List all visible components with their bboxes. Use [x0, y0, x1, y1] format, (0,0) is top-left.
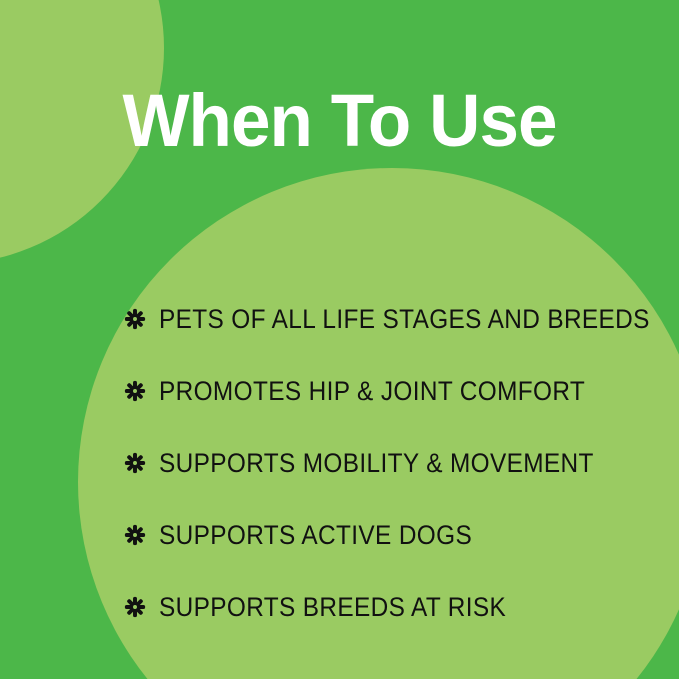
list-item: SUPPORTS BREEDS AT RISK: [124, 588, 669, 626]
list-item-label: SUPPORTS BREEDS AT RISK: [159, 592, 506, 622]
list-item-label: PROMOTES HIP & JOINT COMFORT: [159, 376, 585, 406]
asterisk-icon: [124, 524, 146, 546]
content-layer: When To Use PETS OF ALL LIFE STAGES AND …: [0, 0, 679, 679]
list-item: SUPPORTS ACTIVE DOGS: [124, 516, 669, 554]
benefits-list: PETS OF ALL LIFE STAGES AND BREEDS PROMO…: [124, 300, 669, 626]
asterisk-icon: [124, 308, 146, 330]
page-title: When To Use: [14, 78, 666, 164]
list-item: PROMOTES HIP & JOINT COMFORT: [124, 372, 669, 410]
list-item-label: PETS OF ALL LIFE STAGES AND BREEDS: [159, 304, 650, 334]
product-benefits-infographic: When To Use PETS OF ALL LIFE STAGES AND …: [0, 0, 679, 679]
list-item-label: SUPPORTS MOBILITY & MOVEMENT: [159, 448, 594, 478]
list-item: SUPPORTS MOBILITY & MOVEMENT: [124, 444, 669, 482]
asterisk-icon: [124, 380, 146, 402]
list-item-label: SUPPORTS ACTIVE DOGS: [159, 520, 472, 550]
list-item: PETS OF ALL LIFE STAGES AND BREEDS: [124, 300, 669, 338]
asterisk-icon: [124, 452, 146, 474]
asterisk-icon: [124, 596, 146, 618]
